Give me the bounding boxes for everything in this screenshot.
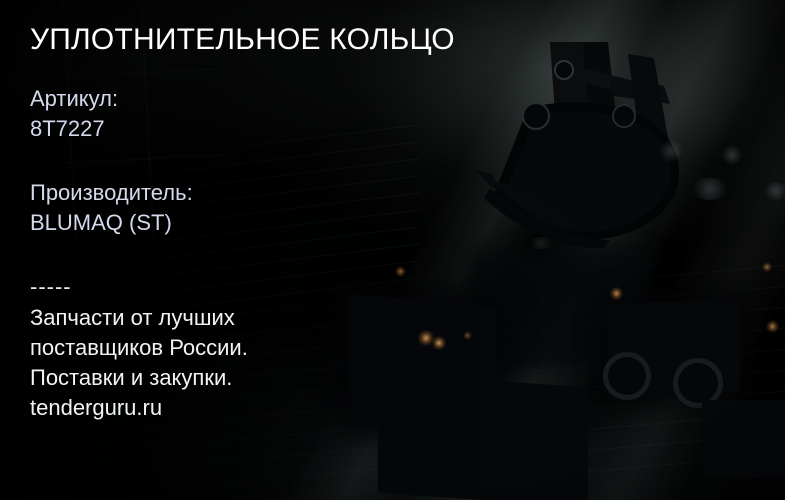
loader-front-tyre-icon [603,352,651,400]
site-url[interactable]: tenderguru.ru [30,393,248,423]
work-lamp-icon [766,320,779,333]
page-title: УПЛОТНИТЕЛЬНОЕ КОЛЬЦО [30,22,455,58]
promo-line-1: Запчасти от лучших [30,303,248,333]
bokeh-highlight [764,182,785,200]
manufacturer-field: Производитель: BLUMAQ (ST) [30,178,193,238]
manufacturer-label: Производитель: [30,180,193,205]
bokeh-highlight [722,145,742,165]
manufacturer-value: BLUMAQ (ST) [30,208,193,238]
promo-text: Запчасти от лучших поставщиков России. П… [30,303,248,423]
work-lamp-icon [762,262,772,272]
article-label: Артикул: [30,86,118,111]
article-value: 8T7227 [30,114,118,144]
bokeh-highlight [690,178,730,200]
steel-crate-icon [702,400,785,478]
product-banner: УПЛОТНИТЕЛЬНОЕ КОЛЬЦО Артикул: 8T7227 Пр… [0,0,785,500]
bokeh-highlight [660,140,682,162]
banner-content: УПЛОТНИТЕЛЬНОЕ КОЛЬЦО Артикул: 8T7227 Пр… [30,0,510,500]
promo-line-2: поставщиков России. [30,333,248,363]
bokeh-highlight [528,237,554,249]
promo-line-3: Поставки и закупки. [30,363,248,393]
article-field: Артикул: 8T7227 [30,84,118,144]
divider: ----- [30,274,72,300]
